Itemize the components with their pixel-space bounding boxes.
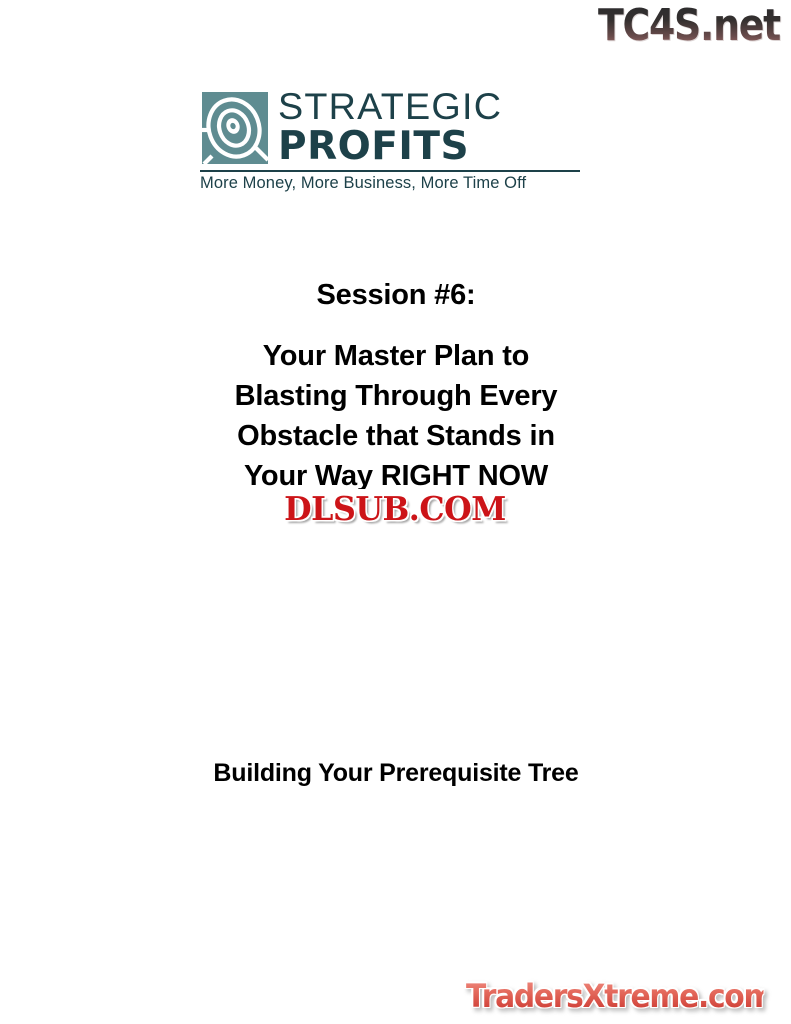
session-heading: Session #6: [96,278,696,312]
document-page: TC4S.net STRATEGIC PROFITS More Money, M… [0,0,791,1024]
watermark-tradersxtreme-wrap: TradersXtreme.com [466,976,786,1018]
page-title: Your Master Plan to Blasting Through Eve… [96,336,696,496]
logo-wordmark: STRATEGIC PROFITS [278,88,582,167]
logo-word-profits: PROFITS [278,127,582,167]
logo-word-strategic: STRATEGIC [278,88,588,126]
strategic-profits-logo: STRATEGIC PROFITS More Money, More Busin… [198,88,582,192]
logo-tagline: More Money, More Business, More Time Off [200,173,582,193]
page-subtitle: Building Your Prerequisite Tree [96,757,696,789]
watermark-dlsub: DLSUB.COM [263,489,528,529]
title-line-1: Your Master Plan to [96,336,696,376]
title-block: Session #6: Your Master Plan to Blasting… [96,278,696,496]
watermark-tc4s: TC4S.net [598,2,780,50]
logo-divider-rule [200,170,580,172]
watermark-tradersxtreme: TradersXtreme.com [466,976,764,1016]
watermark-dlsub-band: DLSUB.COM [257,489,533,529]
logo-target-icon [198,90,272,168]
title-line-2: Blasting Through Every [96,376,696,416]
title-line-3: Obstacle that Stands in [96,416,696,456]
